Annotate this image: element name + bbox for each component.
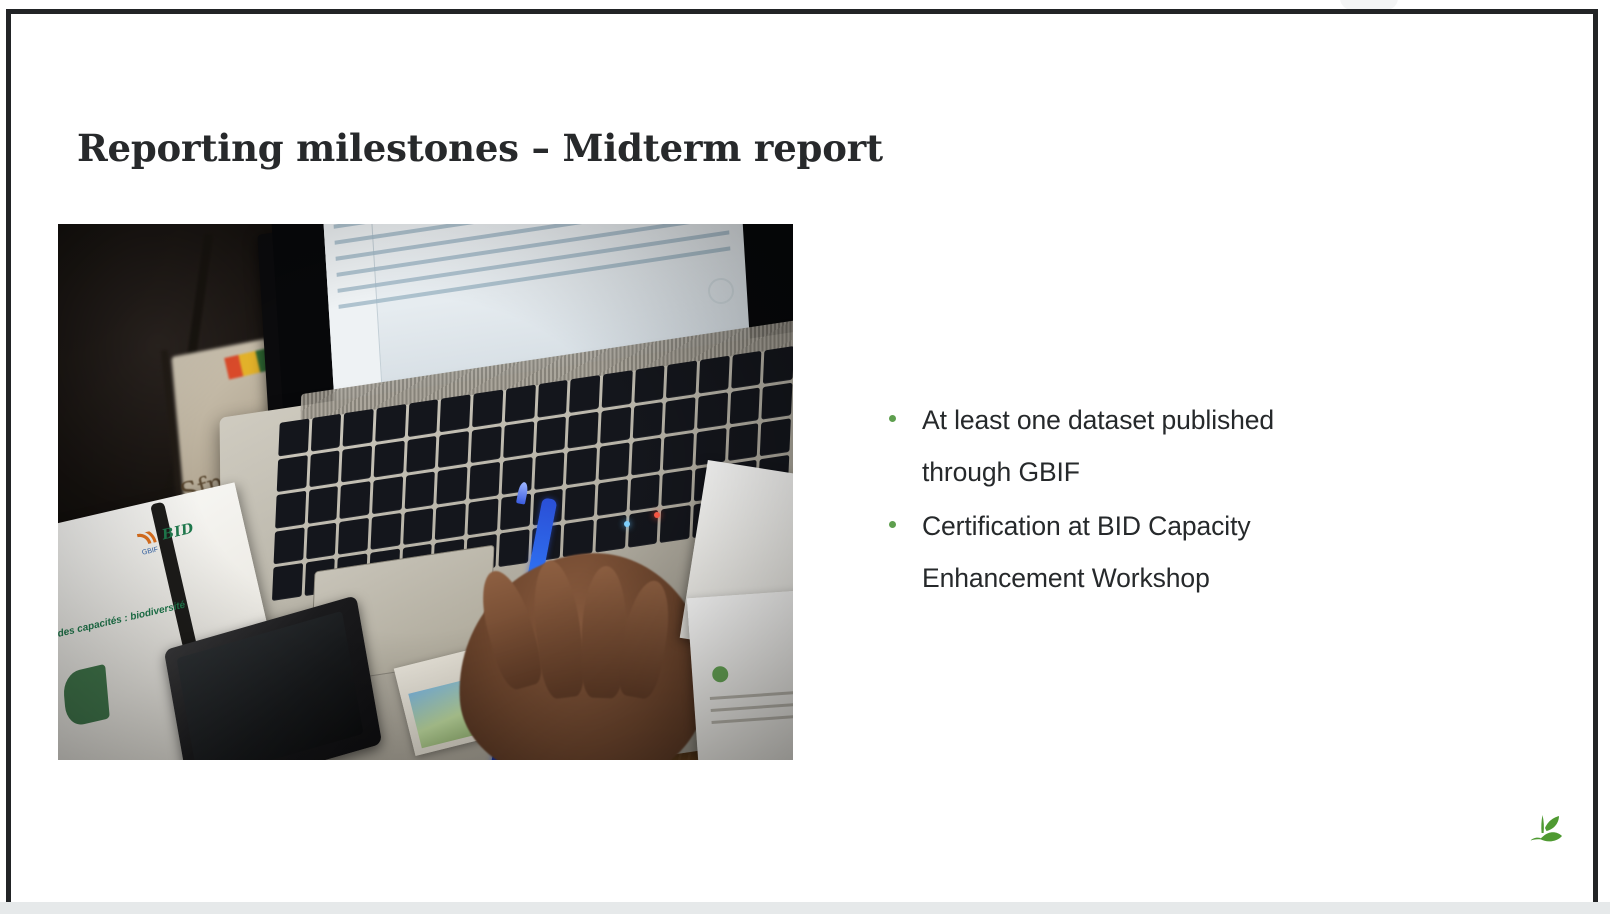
bullet-item-text: Certification at BID Capacity Enhancemen… <box>922 500 1352 604</box>
sprout-leaf-logo-icon <box>1519 806 1567 854</box>
laptop-led-red <box>654 512 660 518</box>
slide-photo: Sƒnƒ <box>58 224 793 760</box>
bullet-dot-icon <box>889 415 896 422</box>
list-item: Certification at BID Capacity Enhancemen… <box>889 500 1449 604</box>
slide-title: Reporting milestones – Midterm report <box>77 126 883 170</box>
slide-viewer: Reporting milestones – Midterm report Sƒ… <box>0 0 1610 914</box>
laptop-led-blue <box>624 521 630 527</box>
viewer-bottom-strip <box>0 902 1610 914</box>
bullet-item-text: At least one dataset published through G… <box>922 394 1352 498</box>
desk-paper-right-bottom <box>687 590 793 760</box>
bullet-dot-icon <box>889 521 896 528</box>
list-item: At least one dataset published through G… <box>889 394 1449 498</box>
bullet-list: At least one dataset published through G… <box>889 394 1449 606</box>
presentation-slide: Reporting milestones – Midterm report Sƒ… <box>6 9 1598 902</box>
photo-scene: Sƒnƒ <box>58 224 793 760</box>
